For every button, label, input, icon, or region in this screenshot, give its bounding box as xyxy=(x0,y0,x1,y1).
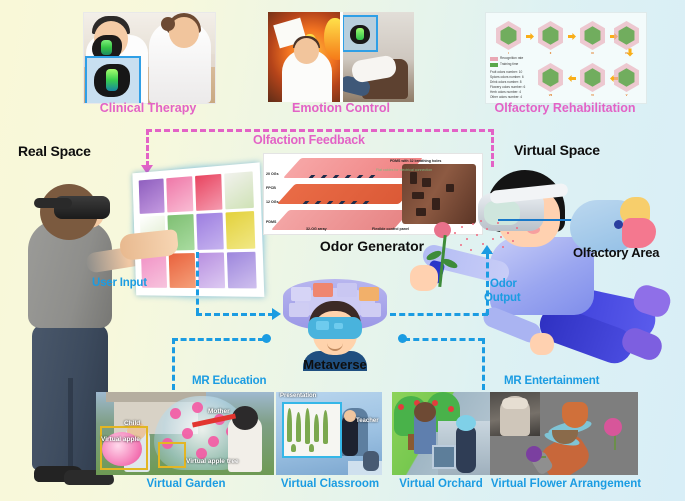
virtual-classroom-image: Presentation Teacher xyxy=(276,392,382,475)
label-real-space: Real Space xyxy=(18,143,91,159)
dash-output-vertical xyxy=(486,253,489,315)
dash-user-input-horizontal xyxy=(196,313,274,316)
caption-virtual-garden: Virtual Garden xyxy=(100,478,272,490)
arrow-odor-output-up xyxy=(481,245,493,254)
olfactory-rehabilitation-image: I II III IV VII VI V Recognition rate Tr… xyxy=(485,12,647,104)
label-olfaction-feedback: Olfaction Feedback xyxy=(253,133,365,147)
virtual-garden-image: Child Mother Virtual apple Virtual apple… xyxy=(96,392,274,475)
caption-metaverse: Metaverse xyxy=(279,357,391,372)
odorgen-label-32-og-array: 32-OG array xyxy=(306,227,327,231)
caption-virtual-classroom: Virtual Classroom xyxy=(274,478,386,490)
virtual-orchard-image xyxy=(392,392,490,475)
caption-olfactory-rehabilitation: Olfactory Rehabilitation xyxy=(465,101,665,115)
label-user-input: User Input xyxy=(92,277,147,289)
dash-metaverse-to-output xyxy=(390,313,488,316)
annotation-virtual-apple: Virtual apple xyxy=(101,436,140,443)
odorgen-label-flexible-panel: Flexible control panel xyxy=(372,227,409,231)
olfaction-metaverse-figure: Clinical Therapy Emotion Control I II II… xyxy=(0,0,685,501)
odorgen-label-12-ogs: 12 OGs xyxy=(266,200,279,204)
caption-emotion-control: Emotion Control xyxy=(241,101,441,115)
annotation-virtual-apple-tree: Virtual apple tree xyxy=(186,458,239,465)
label-olfactory-area: Olfactory Area xyxy=(573,245,659,260)
annotation-mother: Mother xyxy=(208,408,230,415)
emotion-control-image xyxy=(268,12,414,102)
dash-mr-entertainment-horizontal xyxy=(404,338,484,341)
dash-mr-entertainment-vertical xyxy=(482,338,485,390)
label-mr-education: MR Education xyxy=(192,375,266,387)
odorgen-label-20-ogs: 20 OGs xyxy=(266,172,279,176)
label-mr-entertainment: MR Entertainment xyxy=(504,375,599,387)
odorgen-label-pdms: PDMS xyxy=(266,220,276,224)
label-odor-output-line1: Odor xyxy=(490,278,517,290)
odorgen-label-fpcb: FPCB xyxy=(266,186,276,190)
dash-mr-education-vertical xyxy=(172,338,175,390)
odorgen-label-pdms-holes: PDMS with 32 breathing holes xyxy=(390,159,441,163)
annotation-teacher: Teacher xyxy=(356,418,379,424)
virtual-flower-arrangement-image xyxy=(490,392,638,475)
brain-pointer-line xyxy=(498,219,576,221)
odorgen-label-flat-cables: Flat cables for electrical connection xyxy=(376,168,432,172)
dash-user-input-vertical xyxy=(196,252,199,314)
caption-virtual-flower-arrangement: Virtual Flower Arrangement xyxy=(482,478,650,490)
dash-mr-education-horizontal xyxy=(172,338,264,341)
annotation-child: Child xyxy=(124,420,140,427)
label-virtual-space: Virtual Space xyxy=(514,142,600,158)
rehab-legend: Recognition rate Training time Fruit odo… xyxy=(490,57,534,97)
clinical-therapy-image xyxy=(83,12,216,104)
label-odor-output-line2: Output xyxy=(484,292,520,304)
caption-clinical-therapy: Clinical Therapy xyxy=(48,101,248,115)
annotation-presentation: Presentation xyxy=(280,393,316,399)
caption-virtual-orchard: Virtual Orchard xyxy=(386,478,496,490)
